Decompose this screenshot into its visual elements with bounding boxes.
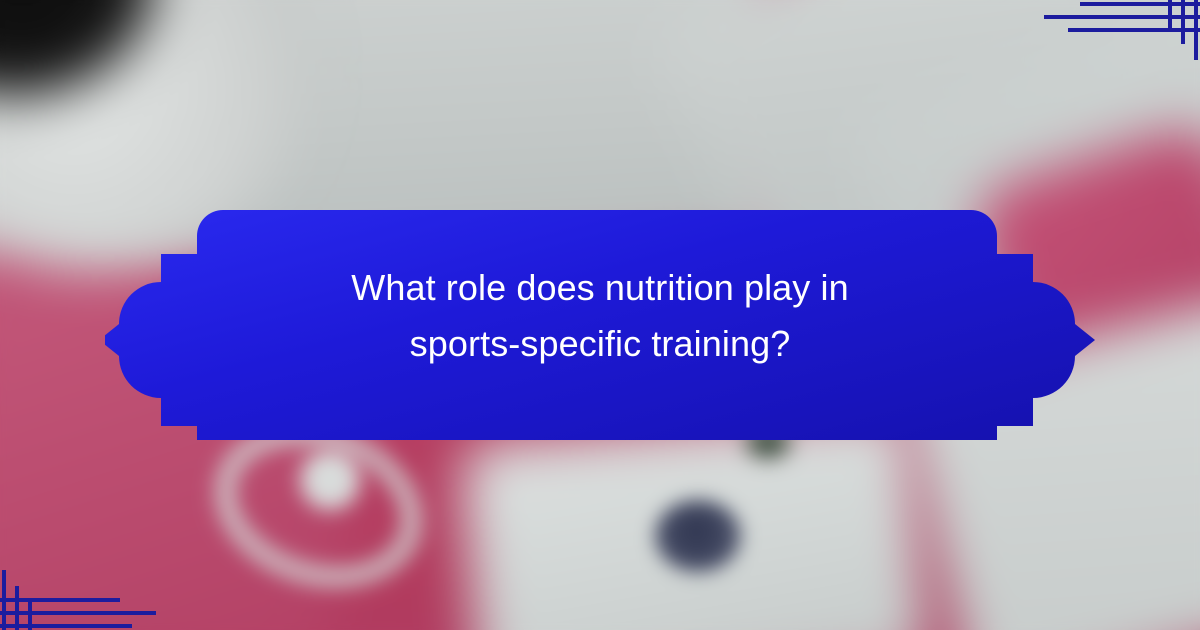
corner-tr-v-line-2 <box>1181 0 1185 44</box>
earbud-tip <box>300 450 360 510</box>
corner-bl-v-line-2 <box>15 586 19 630</box>
corner-bl-v-line-3 <box>28 598 32 630</box>
bottom-left-corner-frame <box>0 570 160 630</box>
corner-tr-v-line-1 <box>1194 0 1198 60</box>
corner-bl-v-line-1 <box>2 570 6 630</box>
phone-camera-lens <box>655 500 741 572</box>
corner-bl-h-line-3 <box>0 624 132 628</box>
corner-bl-h-line-2 <box>0 611 156 615</box>
top-right-corner-frame <box>1040 0 1200 60</box>
corner-tr-h-line-2 <box>1044 15 1200 19</box>
social-card-canvas: What role does nutrition play in sports-… <box>0 0 1200 630</box>
badge-shape <box>105 192 1095 440</box>
corner-tr-v-line-3 <box>1168 0 1172 32</box>
question-badge: What role does nutrition play in sports-… <box>105 192 1095 440</box>
